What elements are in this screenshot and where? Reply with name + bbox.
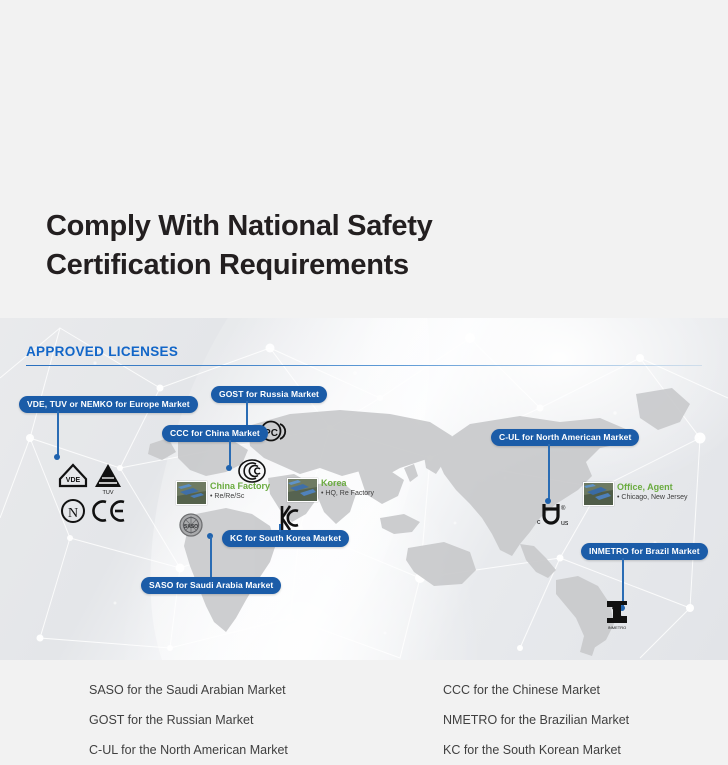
svg-text:®: ® bbox=[561, 505, 566, 512]
svg-text:INMETRO: INMETRO bbox=[608, 625, 626, 630]
ccc-mark-icon bbox=[238, 459, 266, 483]
callout-korea[interactable]: KC for South Korea Market bbox=[222, 530, 349, 547]
korea-site-name: Korea bbox=[321, 478, 347, 488]
svg-text:VDE: VDE bbox=[66, 477, 81, 484]
svg-text:us: us bbox=[561, 520, 568, 527]
list-item: KC for the South Korean Market bbox=[443, 743, 621, 757]
list-item: C-UL for the North American Market bbox=[89, 743, 288, 757]
c-ul-mark-icon: c ® us bbox=[534, 500, 568, 528]
callout-saudi[interactable]: SASO for Saudi Arabia Market bbox=[141, 577, 281, 594]
list-item: GOST for the Russian Market bbox=[89, 713, 253, 727]
leader-dot-china bbox=[226, 465, 232, 471]
china-factory-thumbnail bbox=[176, 481, 207, 505]
office-agent-thumbnail bbox=[583, 482, 614, 506]
leader-line-china bbox=[229, 440, 231, 468]
svg-text:SASO: SASO bbox=[184, 524, 198, 530]
section-title: APPROVED LICENSES bbox=[26, 344, 178, 359]
office-agent-desc: • Chicago, New Jersey bbox=[617, 493, 688, 502]
callout-europe[interactable]: VDE, TUV or NEMKO for Europe Market bbox=[19, 396, 198, 413]
market-list: SASO for the Saudi Arabian Market GOST f… bbox=[0, 660, 728, 765]
china-factory-name: China Factory bbox=[210, 481, 270, 491]
approved-licenses-banner: APPROVED LICENSES VDE, TUV or NEMKO for … bbox=[0, 318, 728, 660]
list-item: CCC for the Chinese Market bbox=[443, 683, 600, 697]
callout-brazil[interactable]: INMETRO for Brazil Market bbox=[581, 543, 708, 560]
list-item: NMETRO for the Brazilian Market bbox=[443, 713, 629, 727]
saso-mark-icon: SASO bbox=[178, 512, 204, 540]
kc-mark-icon bbox=[279, 504, 301, 532]
nemko-mark-icon: N bbox=[60, 498, 86, 524]
korea-factory-thumbnail bbox=[287, 478, 318, 502]
list-item: SASO for the Saudi Arabian Market bbox=[89, 683, 286, 697]
leader-line-europe bbox=[57, 411, 59, 457]
page-title: Comply With National Safety Certificatio… bbox=[46, 207, 432, 285]
office-agent-name: Office, Agent bbox=[617, 482, 673, 492]
tuv-mark-icon: TUV bbox=[94, 463, 122, 495]
leader-line-korea bbox=[279, 524, 281, 532]
vde-mark-icon: VDE bbox=[58, 463, 88, 489]
headline-line-2: Certification Requirements bbox=[46, 246, 432, 285]
svg-text:c: c bbox=[537, 519, 541, 526]
inmetro-mark-icon: INMETRO bbox=[603, 598, 631, 630]
leader-line-north-america bbox=[548, 444, 550, 501]
svg-text:N: N bbox=[68, 506, 78, 521]
callout-china[interactable]: CCC for China Market bbox=[162, 425, 268, 442]
korea-site-desc: • HQ, Re Factory bbox=[321, 489, 374, 498]
svg-text:TUV: TUV bbox=[103, 490, 114, 495]
headline-line-1: Comply With National Safety bbox=[46, 210, 432, 242]
leader-line-saudi bbox=[210, 536, 212, 581]
hero-section: Comply With National Safety Certificatio… bbox=[0, 0, 728, 318]
leader-dot-europe bbox=[54, 454, 60, 460]
section-divider bbox=[26, 365, 702, 366]
china-factory-desc: • Re/Re/Sc bbox=[210, 492, 244, 501]
callout-north-america[interactable]: C-UL for North American Market bbox=[491, 429, 639, 446]
ce-mark-icon bbox=[92, 498, 126, 524]
callout-russia[interactable]: GOST for Russia Market bbox=[211, 386, 327, 403]
